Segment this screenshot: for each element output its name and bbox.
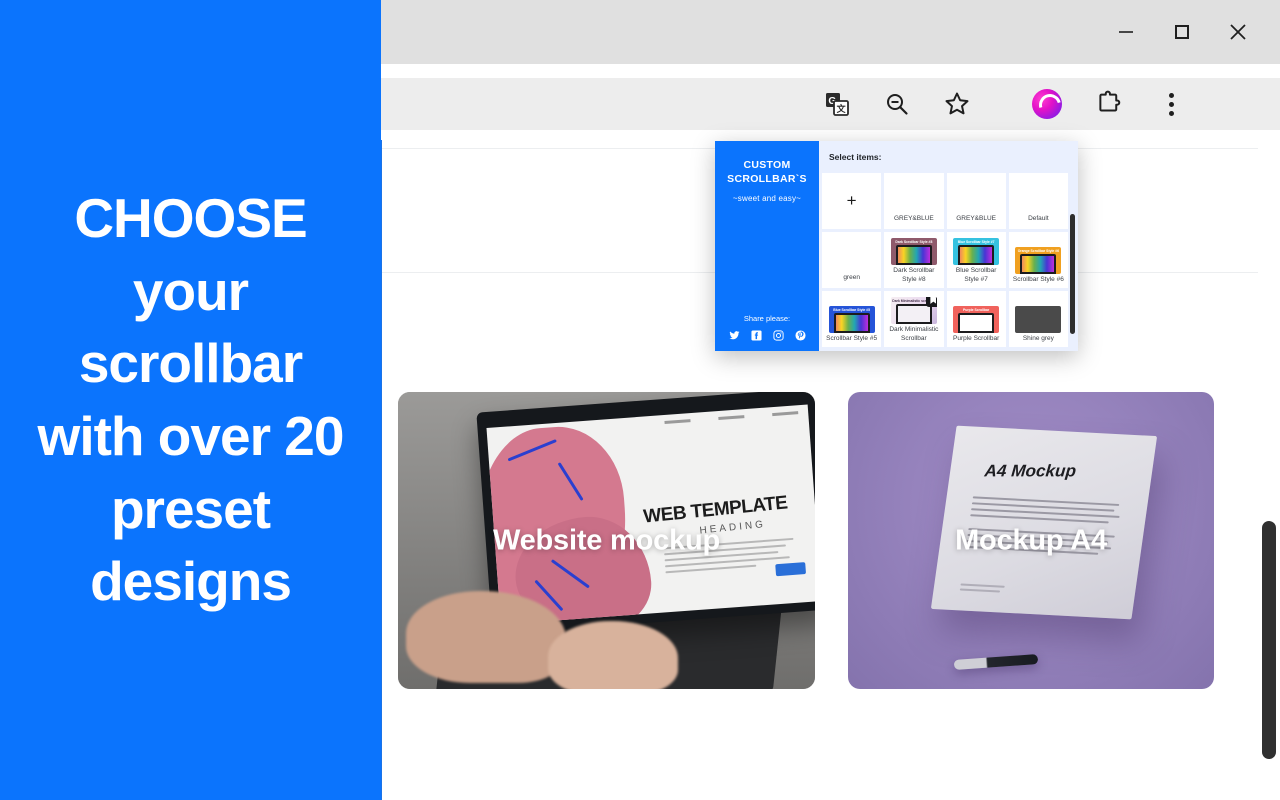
zoom-out-icon[interactable] — [880, 87, 914, 121]
preset-label: green — [822, 274, 881, 282]
card-caption: Website mockup — [398, 524, 815, 557]
preset-thumbnail: Purple Scrollbar — [953, 306, 999, 333]
preset-tile[interactable]: Orange Scrollbar Style #6 Scrollbar Styl… — [1009, 232, 1068, 288]
instagram-icon[interactable] — [773, 330, 784, 341]
preset-thumbnail: Blue Scrollbar Style #5 — [829, 306, 875, 333]
preset-tile[interactable]: Default — [1009, 173, 1068, 229]
preset-tile[interactable]: Purple Scrollbar Purple Scrollbar — [947, 291, 1006, 347]
promo-panel: CHOOSE your scrollbar with over 20 prese… — [0, 0, 381, 800]
preset-label: Scrollbar Style #5 — [822, 335, 881, 343]
preset-label: GREY&BLUE — [947, 215, 1006, 223]
extensions-puzzle-icon[interactable] — [1092, 87, 1126, 121]
window-controls — [1098, 0, 1280, 64]
mockup-card-grid: WEB TEMPLATE HEADING Website mockup — [398, 392, 1214, 689]
custom-dark-scrollbar[interactable] — [1258, 140, 1280, 800]
svg-text:文: 文 — [836, 103, 847, 114]
preset-thumbnail: Orange Scrollbar Style #6 — [1015, 247, 1061, 274]
browser-window: G 文 — [380, 0, 1280, 800]
thumbnail-title: Blue Scrollbar Style #7 — [958, 240, 995, 244]
thumbnail-title: Dark Scrollbar Style #8 — [895, 240, 932, 244]
scrollbar-thumb[interactable] — [1262, 521, 1276, 759]
popup-scrollbar-thumb[interactable] — [1070, 214, 1075, 334]
preset-thumbnail — [1015, 306, 1061, 333]
preset-tile-selected[interactable]: Dark Minimalistic scrollbar Dark Minimal… — [884, 291, 943, 347]
popup-brand-tagline: ~sweet and easy~ — [733, 194, 801, 203]
popup-main: Select items: + GREY&BLUE GREY&BLUE Defa… — [819, 141, 1078, 351]
popup-sidebar: CUSTOM SCROLLBAR`S ~sweet and easy~ Shar… — [715, 141, 819, 351]
selected-badge-icon — [926, 297, 937, 307]
preset-tile[interactable]: GREY&BLUE — [947, 173, 1006, 229]
card-caption: Mockup A4 — [848, 524, 1214, 557]
social-links — [729, 330, 806, 341]
extension-popup: CUSTOM SCROLLBAR`S ~sweet and easy~ Shar… — [715, 141, 1078, 351]
preset-grid-wrapper: + GREY&BLUE GREY&BLUE Default green — [819, 173, 1078, 351]
popup-header-label: Select items: — [819, 141, 1078, 173]
preset-thumbnail: Dark Minimalistic scrollbar — [891, 297, 937, 324]
popup-brand: CUSTOM SCROLLBAR`S — [727, 159, 807, 187]
preset-label: Dark Minimalistic Scrollbar — [884, 326, 943, 343]
screen: G 文 — [0, 0, 1280, 800]
preset-tile[interactable]: green — [822, 232, 881, 288]
mockup-card[interactable]: WEB TEMPLATE HEADING Website mockup — [398, 392, 815, 689]
preset-label: Default — [1009, 215, 1068, 223]
preset-label: Dark Scrollbar Style #8 — [884, 267, 943, 284]
share-label: Share please: — [729, 314, 806, 323]
chrome-menu-kebab-icon[interactable] — [1154, 87, 1188, 121]
preset-tile[interactable]: Dark Scrollbar Style #8 Dark Scrollbar S… — [884, 232, 943, 288]
preset-thumbnail: Blue Scrollbar Style #7 — [953, 238, 999, 265]
add-preset-tile[interactable]: + — [822, 173, 881, 229]
preset-label: Purple Scrollbar — [947, 335, 1006, 343]
popup-scrollbar[interactable] — [1068, 173, 1077, 351]
plus-icon: + — [822, 173, 881, 229]
close-button[interactable] — [1210, 0, 1266, 64]
preset-label: GREY&BLUE — [884, 215, 943, 223]
preset-tile[interactable]: Blue Scrollbar Style #5 Scrollbar Style … — [822, 291, 881, 347]
browser-actions — [1030, 78, 1188, 130]
facebook-icon[interactable] — [751, 330, 762, 341]
mockup-card[interactable]: A4 Mockup — [848, 392, 1214, 689]
browser-toolbar: G 文 — [380, 66, 1280, 136]
preset-tile[interactable]: GREY&BLUE — [884, 173, 943, 229]
share-section: Share please: — [729, 314, 806, 351]
preset-thumbnail: Dark Scrollbar Style #8 — [891, 238, 937, 265]
promo-headline: CHOOSE your scrollbar with over 20 prese… — [0, 182, 381, 618]
popup-brand-line2: SCROLLBAR`S — [727, 173, 807, 187]
twitter-icon[interactable] — [729, 330, 740, 341]
mockup-inner-title: A4 Mockup — [984, 461, 1077, 481]
preset-label: Blue Scrollbar Style #7 — [947, 267, 1006, 284]
bookmark-star-icon[interactable] — [940, 87, 974, 121]
preset-grid: + GREY&BLUE GREY&BLUE Default green — [819, 173, 1078, 347]
translate-icon[interactable]: G 文 — [820, 87, 854, 121]
thumbnail-title: Purple Scrollbar — [963, 308, 989, 312]
thumbnail-title: Orange Scrollbar Style #6 — [1018, 249, 1059, 253]
preset-label: Shine grey — [1009, 335, 1068, 343]
preset-tile[interactable]: Shine grey — [1009, 291, 1068, 347]
popup-brand-line1: CUSTOM — [727, 159, 807, 173]
minimize-button[interactable] — [1098, 0, 1154, 64]
browser-titlebar — [380, 0, 1280, 64]
omnibox-actions: G 文 — [820, 78, 974, 130]
pinterest-icon[interactable] — [795, 330, 806, 341]
maximize-button[interactable] — [1154, 0, 1210, 64]
preset-tile[interactable]: Blue Scrollbar Style #7 Blue Scrollbar S… — [947, 232, 1006, 288]
thumbnail-title: Blue Scrollbar Style #5 — [833, 308, 870, 312]
preset-label: Scrollbar Style #6 — [1009, 276, 1068, 284]
custom-scrollbars-extension-icon[interactable] — [1030, 87, 1064, 121]
